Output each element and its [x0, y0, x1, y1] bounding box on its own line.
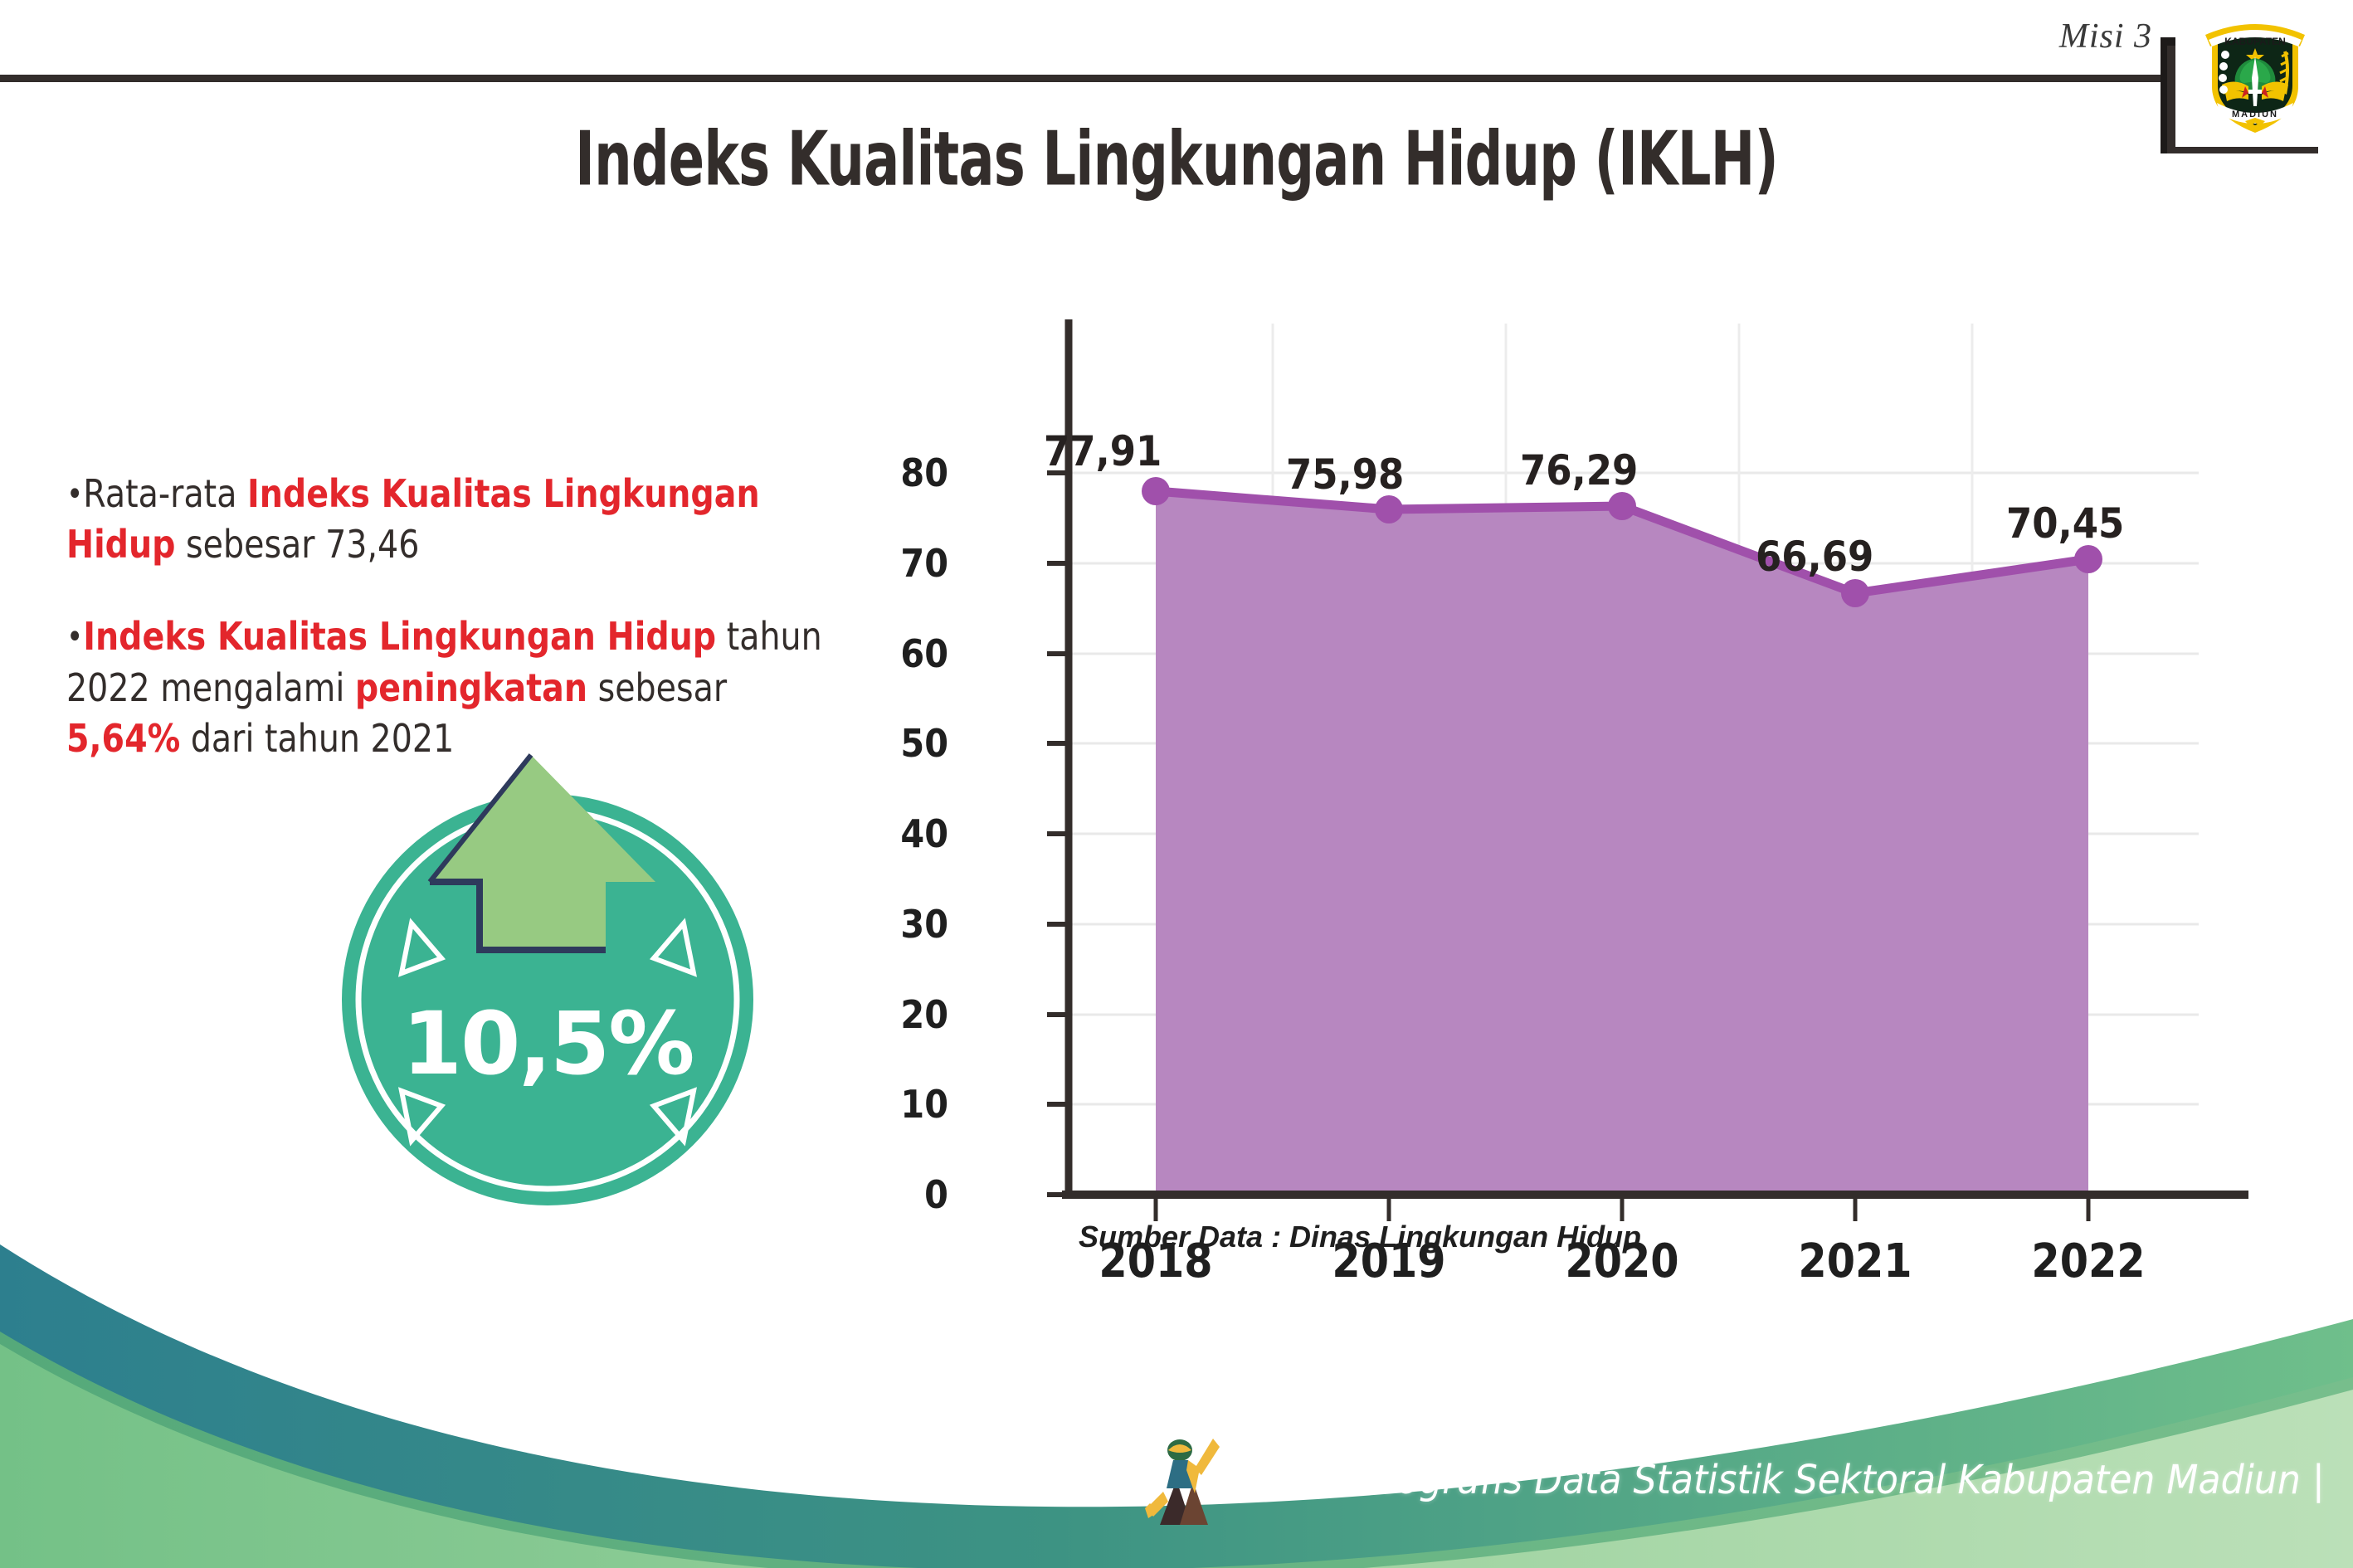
chart-canvas — [954, 274, 2248, 1286]
page-title: Indeks Kualitas Lingkungan Hidup (IKLH) — [212, 116, 2141, 202]
data-label: 66,69 — [1756, 533, 1873, 581]
footer-caption: Media Infografis Data Statistik Sektoral… — [1228, 1457, 2325, 1503]
misi-label: Misi 3 — [2059, 17, 2152, 56]
badge-value: 10,5% — [332, 993, 763, 1094]
chart-area-fill — [1156, 491, 2088, 1195]
data-label: 77,91 — [1044, 427, 1162, 475]
data-label: 75,98 — [1286, 450, 1404, 499]
badge-graphic — [332, 751, 763, 1215]
iklh-area-chart: 0 10 20 30 40 50 60 70 80 2018 2019 2020… — [954, 274, 2248, 1286]
bullet-marker: • — [66, 618, 83, 656]
bullet-text-1-2: peningkatan — [355, 665, 587, 710]
bullet-text-1-0: Indeks Kualitas Lingkungan Hidup — [83, 614, 716, 659]
statistics-mascot-icon — [1143, 1432, 1235, 1556]
bullet-marker: • — [66, 475, 83, 514]
increase-badge: 10,5% — [332, 751, 763, 1215]
y-tick-label: 40 — [844, 811, 948, 856]
y-tick-label: 60 — [844, 631, 948, 676]
bullet-text-1-4: 5,64% — [66, 716, 180, 761]
y-tick-label: 10 — [844, 1082, 948, 1127]
kabupaten-madiun-logo: KABUPATEN MADIUN — [2197, 7, 2313, 139]
bullet-text-1-3: sebesar — [587, 665, 727, 710]
y-tick-label: 30 — [844, 902, 948, 947]
y-tick-label: 20 — [844, 992, 948, 1037]
data-label: 76,29 — [1520, 446, 1638, 494]
svg-text:KABUPATEN: KABUPATEN — [2224, 36, 2286, 47]
bullet-text-0-2: sebesar 73,46 — [175, 522, 419, 567]
list-item: •Rata-rata Indeks Kualitas Lingkungan Hi… — [66, 469, 823, 570]
y-tick-label: 80 — [844, 450, 948, 495]
y-tick-label: 70 — [844, 541, 948, 586]
y-tick-label: 50 — [844, 721, 948, 766]
y-tick-label: 0 — [844, 1172, 948, 1217]
list-item: •Indeks Kualitas Lingkungan Hidup tahun … — [66, 611, 823, 764]
header-divider-rule — [0, 75, 2167, 82]
data-label: 70,45 — [2006, 499, 2124, 548]
bullet-text-0-0: Rata-rata — [83, 471, 247, 516]
